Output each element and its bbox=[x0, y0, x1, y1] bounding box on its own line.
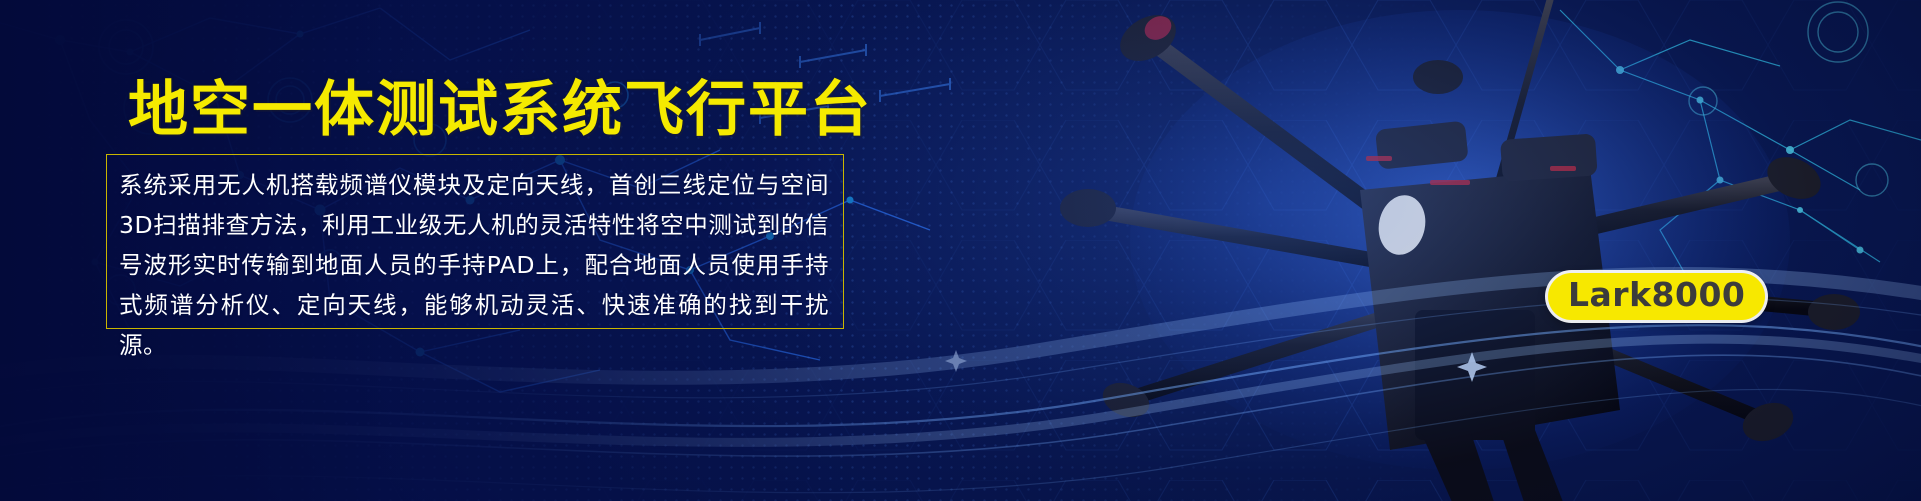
description-box: 系统采用无人机搭载频谱仪模块及定向天线，首创三线定位与空间3D扫描排查方法，利用… bbox=[106, 154, 844, 329]
banner-content: 地空一体测试系统飞行平台 系统采用无人机搭载频谱仪模块及定向天线，首创三线定位与… bbox=[0, 0, 1000, 501]
banner-title: 地空一体测试系统飞行平台 bbox=[128, 80, 872, 140]
product-banner: 地空一体测试系统飞行平台 系统采用无人机搭载频谱仪模块及定向天线，首创三线定位与… bbox=[0, 0, 1921, 501]
description-text: 系统采用无人机搭载频谱仪模块及定向天线，首创三线定位与空间3D扫描排查方法，利用… bbox=[119, 165, 829, 365]
product-name-badge: Lark8000 bbox=[1548, 273, 1765, 320]
drone-image bbox=[1030, 0, 1921, 501]
